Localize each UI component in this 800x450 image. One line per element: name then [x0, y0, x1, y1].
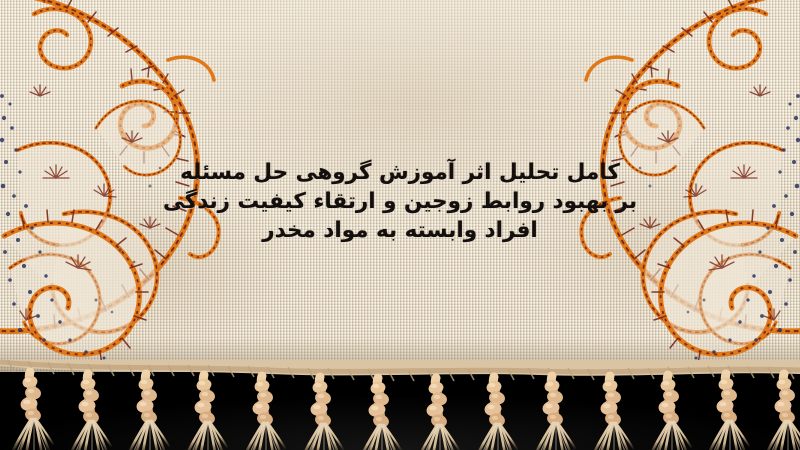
banner-title: کامل تحلیل اثر آموزش گروهی حل مسئله بر ب…	[150, 158, 650, 245]
title-line-3: افراد وابسته به مواد مخدر	[150, 216, 650, 245]
title-line-2: بر بهبود روابط زوجین و ارتقاء کیفیت زندگ…	[150, 187, 650, 216]
textile-banner-canvas: کامل تحلیل اثر آموزش گروهی حل مسئله بر ب…	[0, 0, 800, 450]
title-line-1: کامل تحلیل اثر آموزش گروهی حل مسئله	[150, 158, 650, 187]
